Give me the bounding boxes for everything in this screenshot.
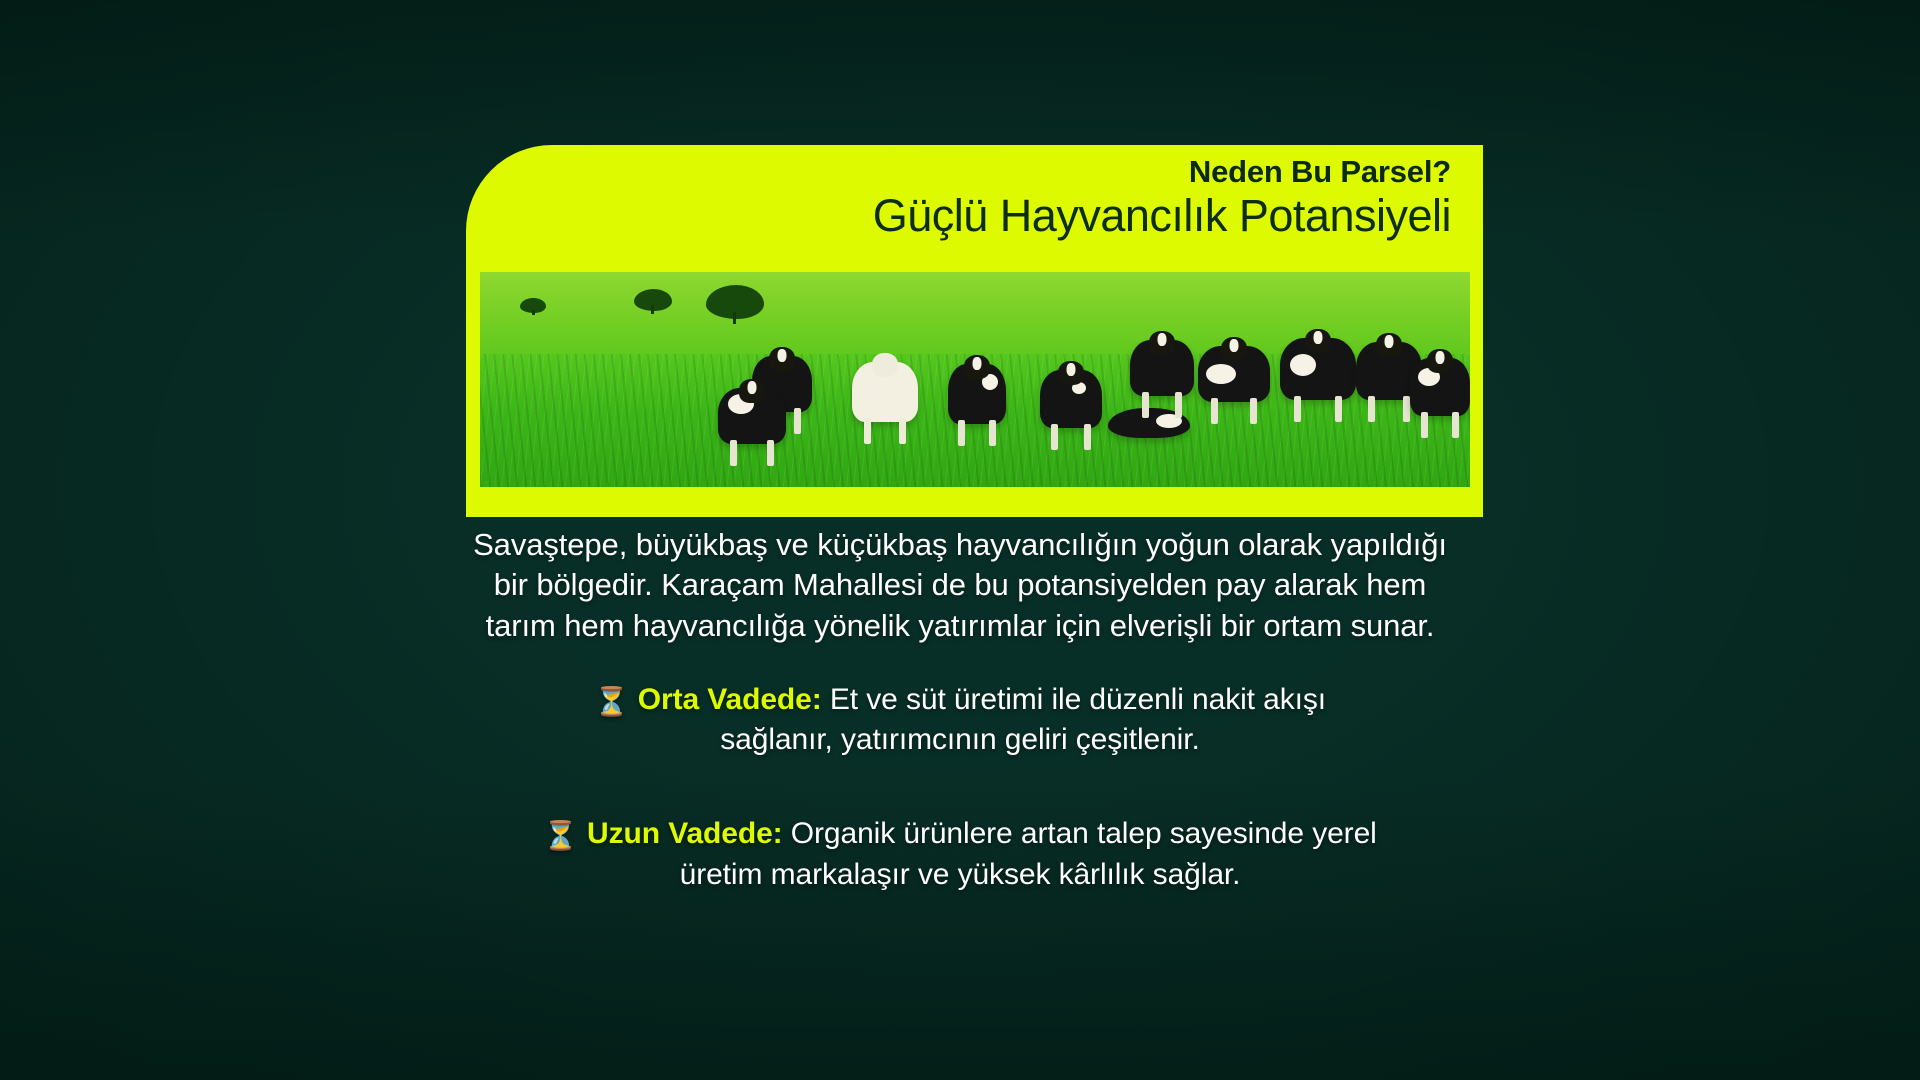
tree-icon [520,298,546,313]
cow-figure [1280,338,1356,400]
cow-head [964,355,990,379]
cow-figure [852,362,918,422]
intro-paragraph: Savaştepe, büyükbaş ve küçükbaş hayvancı… [0,525,1920,646]
cow-head [1058,361,1084,385]
tree-icon [634,289,672,311]
cow-head [1376,333,1402,357]
cow-figure [948,364,1006,424]
cow-head [1427,349,1453,373]
hourglass-icon: ⏳ [594,686,629,717]
card-headline: Güçlü Hayvancılık Potansiyeli [873,191,1451,241]
pasture-cows-photo [480,272,1470,487]
slide-root: Neden Bu Parsel? Güçlü Hayvancılık Potan… [0,0,1920,1080]
bullet-label: Orta Vadede: [638,683,822,716]
cow-figure [1198,346,1270,402]
cow-figure [718,388,786,444]
cow-figure [1130,340,1194,396]
bullet-item-uzun-vadede: ⏳Uzun Vadede: Organik ürünlere artan tal… [0,814,1920,893]
cow-head [1305,329,1331,353]
cow-head [1221,337,1247,361]
cow-figure [1040,370,1102,428]
cow-head [1149,331,1175,355]
bullet-text: Et ve süt üretimi ile düzenli nakit akış… [822,683,1326,716]
bullet-text-continued: üretim markalaşır ve yüksek kârlılık sağ… [0,855,1920,894]
cow-head [739,379,765,403]
bullet-text: Organik ürünlere artan talep sayesinde y… [783,817,1377,850]
bullet-list: ⏳Orta Vadede: Et ve süt üretimi ile düze… [0,680,1920,949]
tree-icon [706,285,764,319]
paragraph-line: bir bölgedir. Karaçam Mahallesi de bu po… [0,565,1920,605]
cow-head [769,347,795,371]
paragraph-line: tarım hem hayvancılığa yönelik yatırımla… [0,606,1920,646]
hourglass-icon: ⏳ [543,820,578,851]
highlight-card: Neden Bu Parsel? Güçlü Hayvancılık Potan… [466,145,1483,517]
bullet-item-orta-vadede: ⏳Orta Vadede: Et ve süt üretimi ile düze… [0,680,1920,759]
cow-figure [1410,358,1470,416]
card-header: Neden Bu Parsel? Güçlü Hayvancılık Potan… [873,155,1451,241]
card-kicker: Neden Bu Parsel? [873,155,1451,189]
cow-head [872,353,898,377]
bullet-label: Uzun Vadede: [587,817,783,850]
paragraph-line: Savaştepe, büyükbaş ve küçükbaş hayvancı… [0,525,1920,565]
bullet-text-continued: sağlanır, yatırımcının geliri çeşitlenir… [0,720,1920,759]
